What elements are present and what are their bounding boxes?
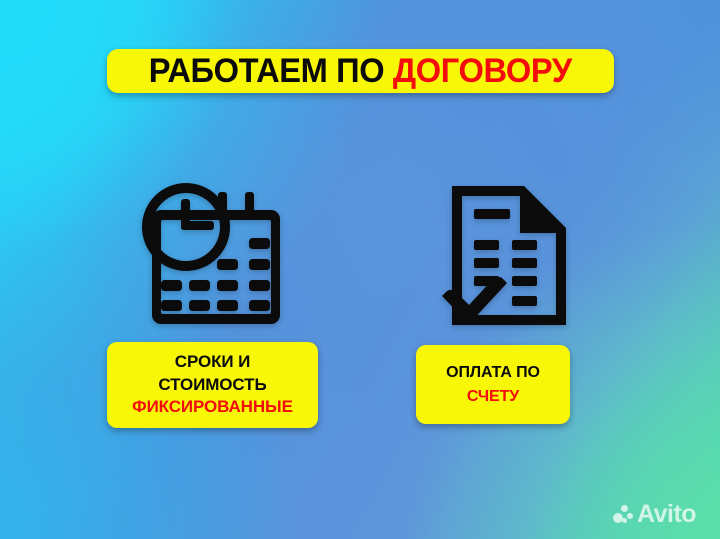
avito-dots-icon	[613, 505, 633, 525]
caption-line: СЧЕТУ	[467, 385, 519, 409]
caption-line: СТОИМОСТЬ	[158, 374, 266, 397]
poster-canvas: РАБОТАЕМ ПО ДОГОВОРУ	[0, 0, 720, 539]
title-banner: РАБОТАЕМ ПО ДОГОВОРУ	[107, 49, 614, 93]
document-check-icon	[434, 178, 584, 333]
caption-box-payment: ОПЛАТА ПО СЧЕТУ	[416, 345, 570, 424]
calendar-clock-icon	[139, 178, 304, 333]
avito-watermark: Avito	[613, 502, 696, 527]
caption-line: ОПЛАТА ПО	[446, 361, 540, 385]
caption-line: ФИКСИРОВАННЫЕ	[132, 396, 293, 419]
title-banner-line: РАБОТАЕМ ПО ДОГОВОРУ	[149, 54, 572, 88]
caption-box-deadlines: СРОКИ И СТОИМОСТЬ ФИКСИРОВАННЫЕ	[107, 342, 318, 428]
title-text-red: ДОГОВОРУ	[393, 52, 572, 90]
title-text-black: РАБОТАЕМ ПО	[149, 52, 384, 90]
caption-line: СРОКИ И	[175, 351, 250, 374]
avito-wordmark: Avito	[637, 502, 696, 527]
